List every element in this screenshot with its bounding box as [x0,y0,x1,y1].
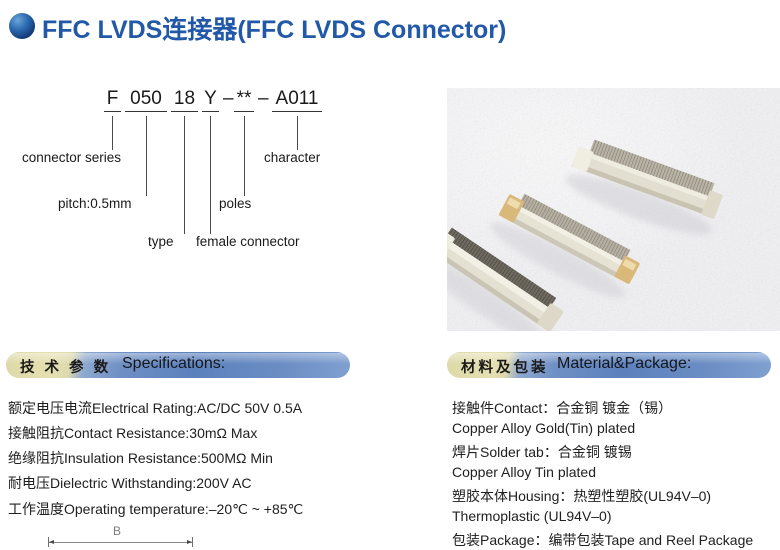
material-line-package: 包装Package：编带包装Tape and Reel Package [452,530,753,550]
pn-label-connector-series: connector series [22,150,121,165]
spec-line-insulation-resistance: 绝缘阻抗Insulation Resistance:500MΩ Min [8,448,273,468]
pn-segment-type: 18 [171,88,198,112]
material-line-solder-tab-plating: Copper Alloy Tin plated [452,464,596,480]
dimension-line [48,542,192,543]
specifications-banner-label-cn: 技 术 参 数 [20,356,111,377]
pn-leader-female-connector [210,116,211,234]
pn-label-female-connector: female connector [196,234,300,249]
spec-line-contact-resistance: 接触阻抗Contact Resistance:30mΩ Max [8,423,257,443]
spec-line-dielectric-withstanding: 耐电压Dielectric Withstanding:200V AC [8,473,252,493]
pn-label-poles: poles [219,196,251,211]
specifications-banner-label-en: Specifications: [122,355,225,373]
blue-sphere-bullet-icon [9,13,35,39]
pn-label-type: type [148,234,174,249]
page-title-bar: FFC LVDS连接器(FFC LVDS Connector) [0,10,780,46]
material-package-banner-label-en: Material&Package: [557,355,691,373]
material-line-solder-tab: 焊片Solder tab：合金铜 镀锡 [452,442,632,462]
pn-leader-character [297,116,298,150]
pn-segment-poles: ** [234,88,254,112]
material-package-banner: 材料及包装 Material&Package: [447,352,771,378]
material-line-contact-plating: Copper Alloy Gold(Tin) plated [452,420,635,436]
material-line-housing: 塑胶本体Housing：热塑性塑胶(UL94V–0) [452,486,711,506]
dimension-label-b: B [113,524,121,538]
pn-segment-character: A011 [272,88,322,112]
dimension-arrow-right [187,540,192,544]
pn-segment-connector-series: F [104,88,121,112]
pn-leader-pitch [146,116,147,196]
pn-leader-poles [244,116,245,196]
pn-separator-2: – [258,88,269,110]
pn-leader-connector-series [112,116,113,150]
pn-label-character: character [264,150,320,165]
page-title: FFC LVDS连接器(FFC LVDS Connector) [42,10,506,46]
pn-segment-pitch: 050 [125,88,167,112]
specifications-banner: 技 术 参 数 Specifications: [6,352,350,378]
pn-separator-1: – [223,88,234,110]
pn-segment-female-connector: Y [202,88,219,112]
pn-label-pitch: pitch:0.5mm [58,196,132,211]
dimension-drawing: B [0,520,300,550]
part-number-diagram: F 050 18 Y – ** – A011 connector series … [0,88,430,263]
spec-line-electrical-rating: 额定电压电流Electrical Rating:AC/DC 50V 0.5A [8,398,302,418]
pn-leader-type [184,116,185,234]
material-line-housing-material: Thermoplastic (UL94V–0) [452,508,612,524]
connector-photo-item [447,88,780,331]
dimension-tick-right [192,537,193,547]
dimension-arrow-left [49,540,54,544]
material-line-contact: 接触件Contact：合金铜 镀金（锡） [452,398,672,418]
spec-line-operating-temperature: 工作温度Operating temperature:–20℃ ~ +85℃ [8,499,303,519]
material-package-banner-label-cn: 材料及包装 [461,356,549,377]
product-photo [447,88,780,331]
